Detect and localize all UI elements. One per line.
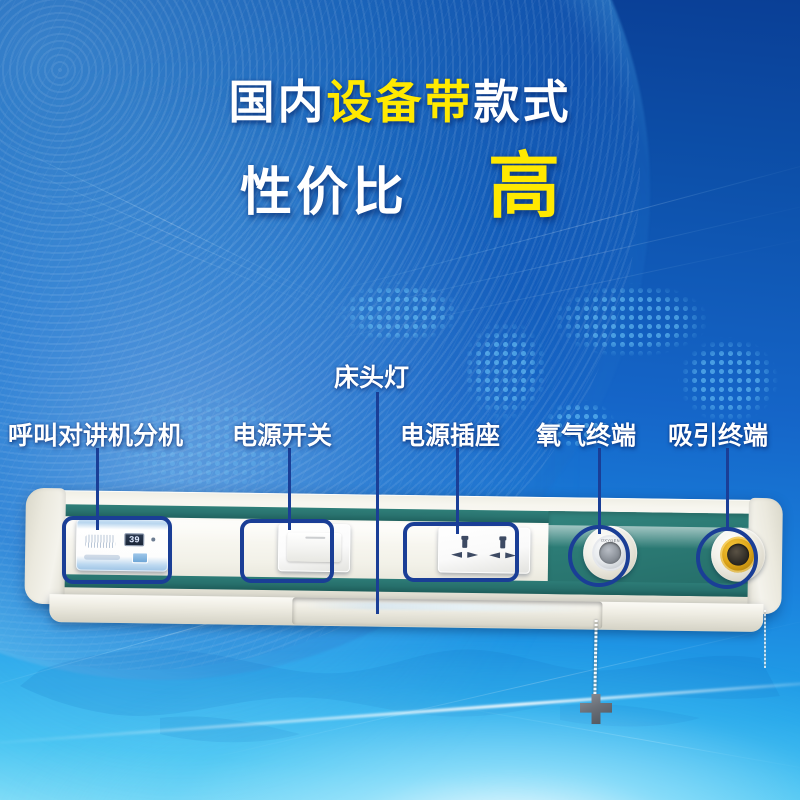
callout-label-suction-terminal: 吸引终端 [668,416,768,452]
product-banner-canvas: 国内设备带款式 性价比 高 呼叫对讲机分机 电源开关 床头灯 电源插座 氧气终端… [0,0,800,800]
callout-label-nurse-call-intercom: 呼叫对讲机分机 [8,416,183,452]
callout-label-bedside-lamp: 床头灯 [334,358,409,394]
callout-label-power-switch: 电源开关 [232,416,332,452]
callout-label-power-socket: 电源插座 [400,416,500,452]
callout-label-group: 呼叫对讲机分机 电源开关 床头灯 电源插座 氧气终端 吸引终端 [0,0,800,800]
callout-label-oxygen-terminal: 氧气终端 [536,416,636,452]
